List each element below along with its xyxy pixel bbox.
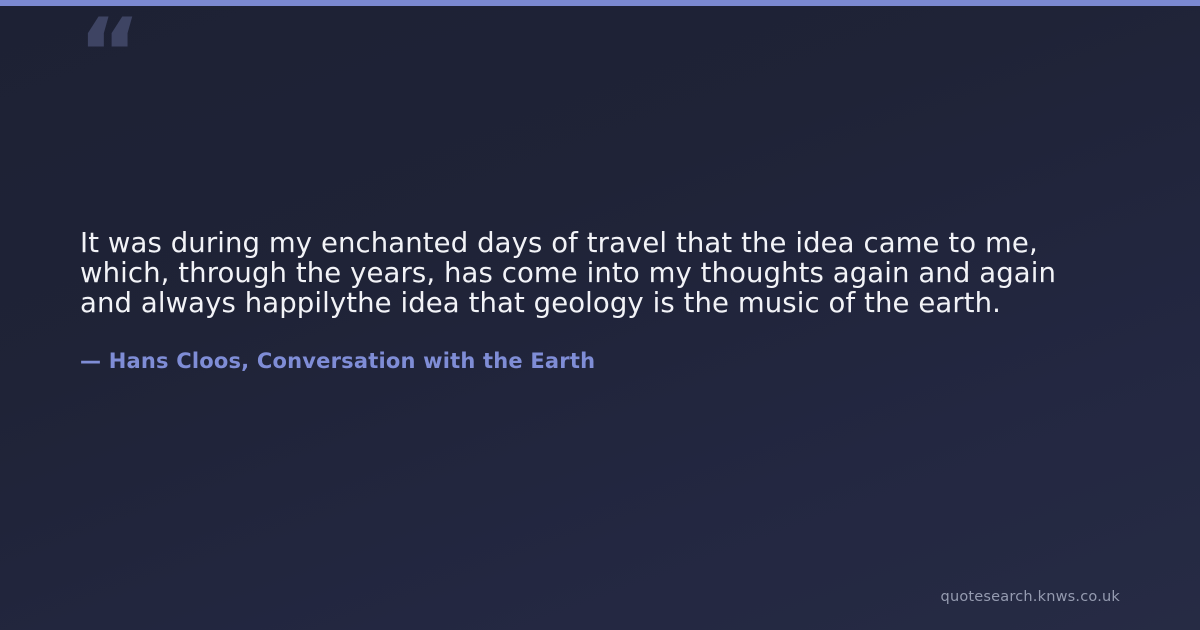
footer: quotesearch.knws.co.uk <box>941 588 1120 606</box>
quote-card: “ It was during my enchanted days of tra… <box>0 0 1200 630</box>
source-site-url: quotesearch.knws.co.uk <box>941 588 1120 606</box>
quote-text: It was during my enchanted days of trave… <box>80 228 1102 318</box>
quotation-mark-icon: “ <box>78 6 139 102</box>
quote-content: It was during my enchanted days of trave… <box>80 228 1102 374</box>
quote-attribution: — Hans Cloos, Conversation with the Eart… <box>80 348 1102 374</box>
attribution-text: — Hans Cloos, Conversation with the Eart… <box>80 349 595 373</box>
top-accent-bar <box>0 0 1200 6</box>
